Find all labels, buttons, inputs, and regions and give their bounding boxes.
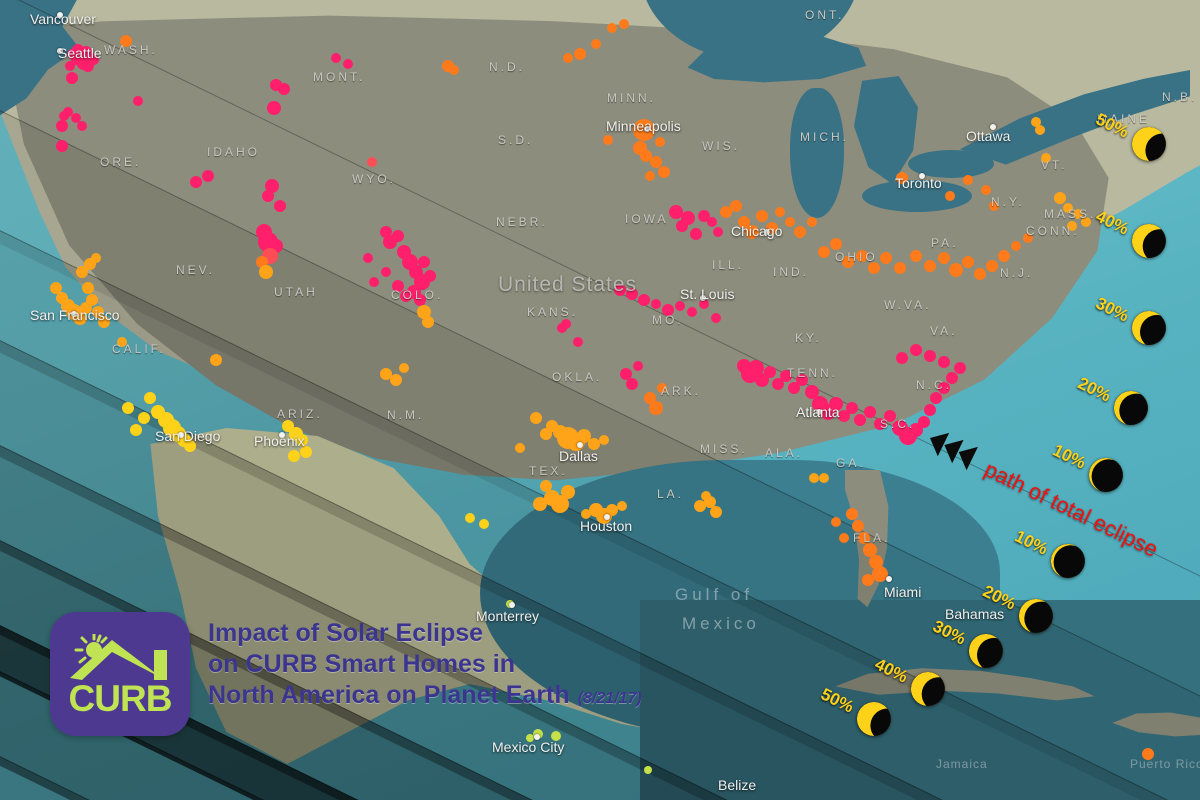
eclipse-percent-label: 50% bbox=[817, 685, 856, 718]
eclipse-percent-marker: 40% bbox=[1089, 200, 1171, 263]
eclipse-percent-marker: 50% bbox=[814, 678, 896, 741]
crescent-moon-icon bbox=[1126, 121, 1171, 166]
title-line-1: Impact of Solar Eclipse bbox=[208, 618, 642, 649]
crescent-moon-icon bbox=[1045, 538, 1090, 583]
eclipse-percent-label: 40% bbox=[1092, 207, 1131, 240]
title-line-3-row: North America on Planet Earth(8/21/17) bbox=[208, 680, 642, 711]
eclipse-percent-marker: 30% bbox=[1089, 287, 1171, 350]
eclipse-percent-label: 20% bbox=[979, 582, 1018, 615]
eclipse-percent-label: 40% bbox=[871, 655, 910, 688]
eclipse-percent-label: 10% bbox=[1011, 527, 1050, 560]
curb-logo-wordmark: CURB bbox=[50, 678, 190, 720]
eclipse-map-infographic: United StatesWASH.ORE.IDAHOMONT.N.D.S.D.… bbox=[0, 0, 1200, 800]
eclipse-percent-marker: 20% bbox=[1071, 367, 1153, 430]
curb-logo: CURB bbox=[50, 612, 190, 736]
title-line-2: on CURB Smart Homes in bbox=[208, 649, 642, 680]
eclipse-percent-marker: 20% bbox=[976, 575, 1058, 638]
title-date: (8/21/17) bbox=[578, 690, 642, 707]
crescent-moon-icon bbox=[1083, 452, 1128, 497]
crescent-moon-icon bbox=[1126, 218, 1171, 263]
eclipse-percent-marker: 40% bbox=[868, 648, 950, 711]
eclipse-percent-label: 50% bbox=[1092, 110, 1131, 143]
house-roof-sun-icon bbox=[68, 634, 172, 680]
crescent-moon-icon bbox=[1108, 385, 1153, 430]
eclipse-percent-label: 10% bbox=[1049, 441, 1088, 474]
crescent-moon-icon bbox=[1126, 305, 1171, 350]
crescent-moon-icon bbox=[905, 666, 950, 711]
crescent-moon-icon bbox=[1013, 593, 1058, 638]
title-line-3: North America on Planet Earth bbox=[208, 681, 570, 709]
title-block: CURB Impact of Solar Eclipse on CURB Sma… bbox=[50, 612, 642, 736]
eclipse-percent-marker: 30% bbox=[926, 610, 1008, 673]
eclipse-percent-marker: 10% bbox=[1008, 520, 1090, 583]
crescent-moon-icon bbox=[851, 696, 896, 741]
eclipse-percent-label: 30% bbox=[1092, 294, 1131, 327]
eclipse-percent-label: 30% bbox=[929, 617, 968, 650]
title-text-group: Impact of Solar Eclipse on CURB Smart Ho… bbox=[208, 612, 642, 711]
crescent-moon-icon bbox=[963, 628, 1008, 673]
eclipse-percent-label: 20% bbox=[1074, 374, 1113, 407]
eclipse-percent-marker: 50% bbox=[1089, 103, 1171, 166]
